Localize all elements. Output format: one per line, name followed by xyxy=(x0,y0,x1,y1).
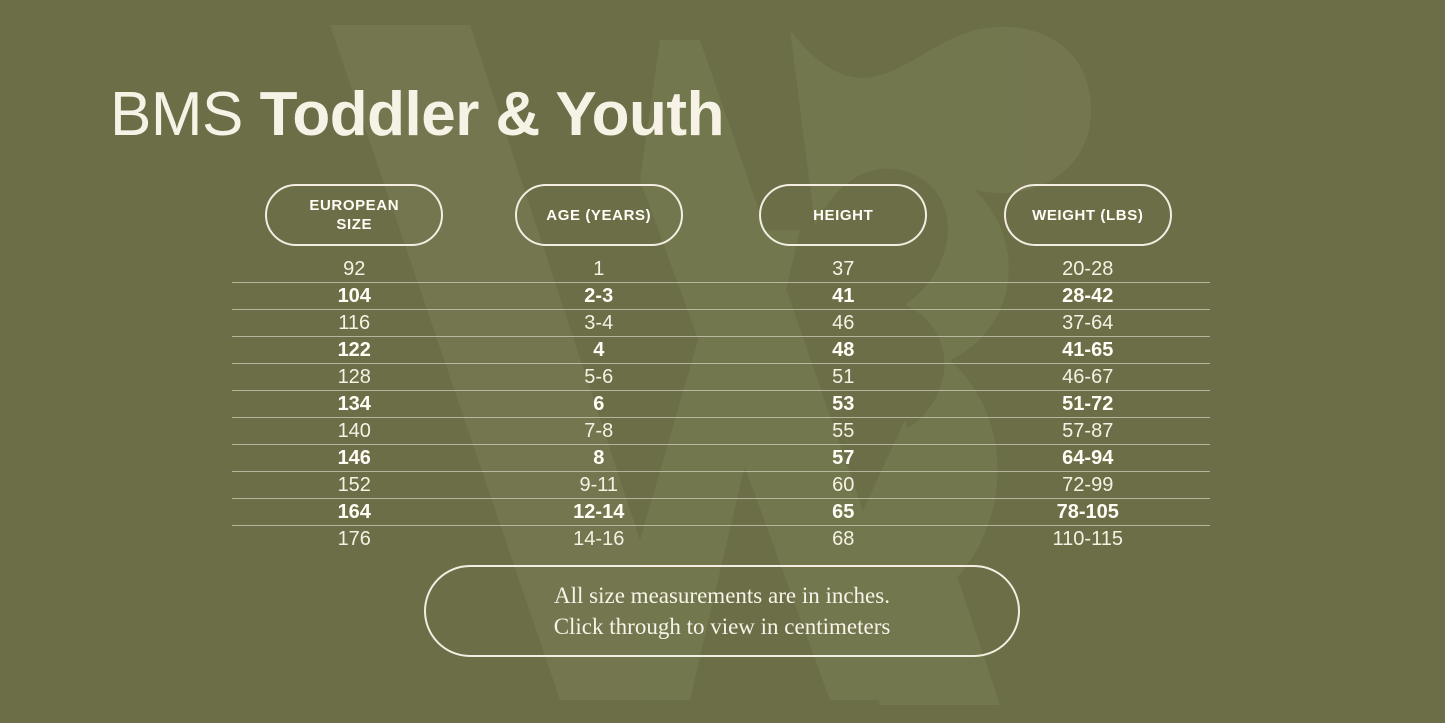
cell-height: 48 xyxy=(721,337,966,364)
size-table: 9213720-281042-34128-421163-44637-641224… xyxy=(232,256,1210,553)
cell-european-size: 122 xyxy=(232,337,477,364)
header-slot-weight: WEIGHT (LBS) xyxy=(966,183,1211,247)
column-header-height: HEIGHT xyxy=(759,184,927,246)
cell-european-size: 140 xyxy=(232,418,477,445)
page-title: BMS Toddler & Youth xyxy=(110,76,724,154)
cell-weight: 41-65 xyxy=(966,337,1211,364)
table-row: 1285-65146-67 xyxy=(232,364,1210,391)
measurement-note-line-2: Click through to view in centimeters xyxy=(554,611,891,642)
table-row: 16412-146578-105 xyxy=(232,499,1210,526)
cell-height: 55 xyxy=(721,418,966,445)
table-row: 12244841-65 xyxy=(232,337,1210,364)
table-row: 1163-44637-64 xyxy=(232,310,1210,337)
cell-weight: 51-72 xyxy=(966,391,1211,418)
cell-european-size: 116 xyxy=(232,310,477,337)
column-header-weight-label: WEIGHT (LBS) xyxy=(1032,206,1143,225)
cell-height: 37 xyxy=(721,256,966,283)
cell-weight: 78-105 xyxy=(966,499,1211,526)
cell-european-size: 164 xyxy=(232,499,477,526)
cell-age: 12-14 xyxy=(477,499,722,526)
table-row: 1407-85557-87 xyxy=(232,418,1210,445)
measurement-note[interactable]: All size measurements are in inches. Cli… xyxy=(424,565,1020,657)
cell-age: 5-6 xyxy=(477,364,722,391)
column-header-european-size-line1: EUROPEAN xyxy=(309,197,399,214)
table-row: 1042-34128-42 xyxy=(232,283,1210,310)
cell-height: 41 xyxy=(721,283,966,310)
cell-european-size: 176 xyxy=(232,526,477,553)
cell-weight: 72-99 xyxy=(966,472,1211,499)
cell-height: 65 xyxy=(721,499,966,526)
cell-height: 53 xyxy=(721,391,966,418)
table-row: 14685764-94 xyxy=(232,445,1210,472)
measurement-note-line-1: All size measurements are in inches. xyxy=(554,580,890,611)
cell-european-size: 146 xyxy=(232,445,477,472)
cell-age: 3-4 xyxy=(477,310,722,337)
table-row: 17614-1668110-115 xyxy=(232,526,1210,553)
cell-height: 68 xyxy=(721,526,966,553)
cell-weight: 20-28 xyxy=(966,256,1211,283)
table-row: 1529-116072-99 xyxy=(232,472,1210,499)
cell-age: 4 xyxy=(477,337,722,364)
cell-age: 6 xyxy=(477,391,722,418)
cell-weight: 64-94 xyxy=(966,445,1211,472)
cell-weight: 46-67 xyxy=(966,364,1211,391)
column-header-weight: WEIGHT (LBS) xyxy=(1004,184,1172,246)
title-brand: BMS xyxy=(110,80,243,149)
table-row: 9213720-28 xyxy=(232,256,1210,283)
cell-weight: 110-115 xyxy=(966,526,1211,553)
cell-age: 9-11 xyxy=(477,472,722,499)
cell-weight: 28-42 xyxy=(966,283,1211,310)
cell-age: 1 xyxy=(477,256,722,283)
column-header-height-label: HEIGHT xyxy=(813,206,873,225)
cell-european-size: 92 xyxy=(232,256,477,283)
cell-weight: 37-64 xyxy=(966,310,1211,337)
cell-height: 51 xyxy=(721,364,966,391)
cell-height: 46 xyxy=(721,310,966,337)
column-header-age: AGE (YEARS) xyxy=(515,184,683,246)
size-chart-panel: BMS Toddler & Youth EUROPEAN SIZE AGE (Y… xyxy=(0,0,1445,723)
cell-height: 57 xyxy=(721,445,966,472)
cell-european-size: 128 xyxy=(232,364,477,391)
cell-age: 14-16 xyxy=(477,526,722,553)
column-header-age-label: AGE (YEARS) xyxy=(546,206,651,225)
cell-european-size: 104 xyxy=(232,283,477,310)
cell-age: 8 xyxy=(477,445,722,472)
column-header-european-size: EUROPEAN SIZE xyxy=(265,184,443,246)
cell-height: 60 xyxy=(721,472,966,499)
column-header-european-size-line2: SIZE xyxy=(336,216,372,233)
cell-european-size: 134 xyxy=(232,391,477,418)
header-slot-european-size: EUROPEAN SIZE xyxy=(232,183,477,247)
title-name: Toddler & Youth xyxy=(260,80,724,149)
cell-weight: 57-87 xyxy=(966,418,1211,445)
header-slot-height: HEIGHT xyxy=(721,183,966,247)
table-row: 13465351-72 xyxy=(232,391,1210,418)
cell-european-size: 152 xyxy=(232,472,477,499)
header-slot-age: AGE (YEARS) xyxy=(477,183,722,247)
cell-age: 7-8 xyxy=(477,418,722,445)
cell-age: 2-3 xyxy=(477,283,722,310)
table-header-row: EUROPEAN SIZE AGE (YEARS) HEIGHT WEIGHT … xyxy=(232,183,1210,247)
